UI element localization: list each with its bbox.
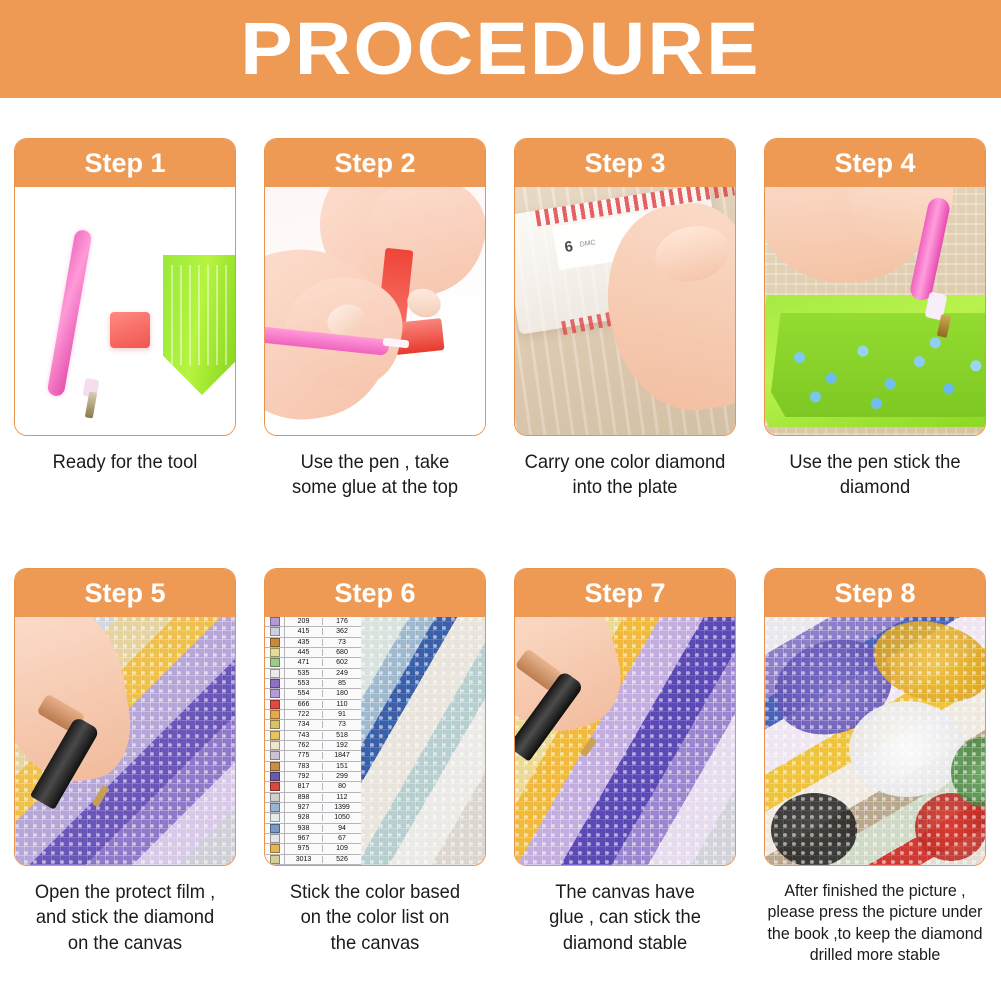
color-swatch-icon: [270, 710, 280, 719]
color-swatch-icon: [270, 689, 280, 698]
color-code-cell: 928: [285, 814, 323, 821]
color-chart-row: 7751847: [265, 751, 361, 761]
color-chart-row: 535249: [265, 669, 361, 679]
glue-dipping-photo: [265, 187, 485, 435]
color-swatch-icon: [270, 751, 280, 760]
step-6-header-label: Step 6: [334, 580, 415, 607]
step-7-image: [515, 617, 735, 865]
color-swatch-icon: [270, 762, 280, 771]
color-swatch-symbol: [265, 762, 285, 771]
color-chart-row: 445680: [265, 648, 361, 658]
step-4-caption: Use the pen stick thediamond: [763, 450, 987, 501]
color-swatch-icon: [270, 720, 280, 729]
color-code-cell: 435: [285, 639, 323, 646]
color-swatch-symbol: [265, 782, 285, 791]
color-chart-row: 43573: [265, 638, 361, 648]
color-swatch-symbol: [265, 658, 285, 667]
step-1-header-label: Step 1: [84, 150, 165, 177]
color-swatch-icon: [270, 627, 280, 636]
green-tray-icon: [163, 255, 235, 395]
color-swatch-symbol: [265, 617, 285, 626]
color-swatch-icon: [270, 813, 280, 822]
color-swatch-icon: [270, 855, 280, 864]
color-code-cell: 553: [285, 680, 323, 687]
step-card-4[interactable]: Step 4: [764, 138, 986, 436]
color-code-cell: 209: [285, 618, 323, 625]
color-swatch-symbol: [265, 731, 285, 740]
color-chart-row: 666110: [265, 700, 361, 710]
procedure-infographic: PROCEDURE Step 1 Ready for the: [0, 0, 1001, 1001]
tools-photo: [15, 187, 235, 435]
color-swatch-icon: [270, 772, 280, 781]
step-3-header-label: Step 3: [584, 150, 665, 177]
color-chart-row: 743518: [265, 731, 361, 741]
color-swatch-symbol: [265, 813, 285, 822]
step-5-caption: Open the protect film ,and stick the dia…: [13, 880, 237, 956]
color-chart-row: 898112: [265, 793, 361, 803]
color-chart-row: 81780: [265, 782, 361, 792]
step-4-image: [765, 187, 985, 435]
color-swatch-icon: [270, 741, 280, 750]
color-count-cell: 91: [323, 711, 361, 718]
steps-row-bottom: Step 5 Open the protect film ,and stick …: [0, 568, 1001, 966]
step-card-2[interactable]: Step 2: [264, 138, 486, 436]
color-chart-row: 9271399: [265, 803, 361, 813]
color-swatch-symbol: [265, 638, 285, 647]
color-swatch-symbol: [265, 679, 285, 688]
color-chart-panel: 2091764153624357344568047160253524955385…: [265, 617, 361, 865]
step-3-image: 6 DMC: [515, 187, 735, 435]
color-code-cell: 471: [285, 659, 323, 666]
step-7-header: Step 7: [515, 569, 735, 617]
color-code-cell: 743: [285, 732, 323, 739]
page-banner: PROCEDURE: [0, 0, 1001, 98]
color-code-cell: 445: [285, 649, 323, 656]
bag-label-sub: DMC: [579, 239, 596, 248]
color-swatch-symbol: [265, 834, 285, 843]
step-1-image: [15, 187, 235, 435]
color-swatch-icon: [270, 731, 280, 740]
color-chart-row: 55385: [265, 679, 361, 689]
color-chart-row: 73473: [265, 720, 361, 730]
color-swatch-icon: [270, 793, 280, 802]
color-chart-row: 96767: [265, 834, 361, 844]
color-swatch-symbol: [265, 627, 285, 636]
step-1-header: Step 1: [15, 139, 235, 187]
color-chart-row: 975109: [265, 844, 361, 854]
step-2-header: Step 2: [265, 139, 485, 187]
color-chart-row: 72291: [265, 710, 361, 720]
step-5-header: Step 5: [15, 569, 235, 617]
color-count-cell: 112: [323, 794, 361, 801]
color-swatch-icon: [270, 803, 280, 812]
color-count-cell: 518: [323, 732, 361, 739]
bead-highlight-overlay: [361, 617, 485, 865]
step-card-7[interactable]: Step 7: [514, 568, 736, 866]
step-1-caption: Ready for the tool: [13, 450, 237, 475]
color-swatch-icon: [270, 658, 280, 667]
color-chart-table: 2091764153624357344568047160253524955385…: [265, 617, 361, 865]
color-count-cell: 180: [323, 690, 361, 697]
color-code-cell: 535: [285, 670, 323, 677]
step-5-header-label: Step 5: [84, 580, 165, 607]
color-swatch-symbol: [265, 803, 285, 812]
color-chart-row: 415362: [265, 627, 361, 637]
color-code-cell: 775: [285, 752, 323, 759]
color-code-cell: 792: [285, 773, 323, 780]
step-cell-1: Step 1 Ready for the tool: [0, 138, 250, 501]
step-7-caption: The canvas haveglue , can stick thediamo…: [513, 880, 737, 956]
step-cell-2: Step 2 U: [250, 138, 500, 501]
step-card-1[interactable]: Step 1: [14, 138, 236, 436]
color-code-cell: 938: [285, 825, 323, 832]
color-swatch-symbol: [265, 700, 285, 709]
step-cell-6: Step 6 209176415362435734456804716025352…: [250, 568, 500, 966]
step-4-header-label: Step 4: [834, 150, 915, 177]
color-swatch-symbol: [265, 689, 285, 698]
color-swatch-icon: [270, 782, 280, 791]
color-code-cell: 783: [285, 763, 323, 770]
color-code-cell: 898: [285, 794, 323, 801]
step-cell-3: Step 3 6 DMC: [500, 138, 750, 501]
color-swatch-icon: [270, 700, 280, 709]
step-6-caption: Stick the color basedon the color list o…: [263, 880, 487, 956]
color-count-cell: 73: [323, 639, 361, 646]
color-code-cell: 3013: [285, 856, 323, 863]
color-swatch-symbol: [265, 648, 285, 657]
step-8-header: Step 8: [765, 569, 985, 617]
canvas-photo: [15, 617, 235, 865]
canvas-photo: [361, 617, 485, 865]
color-swatch-symbol: [265, 844, 285, 853]
pink-pen-icon: [47, 229, 93, 397]
color-count-cell: 176: [323, 618, 361, 625]
color-code-cell: 722: [285, 711, 323, 718]
color-count-cell: 1847: [323, 752, 361, 759]
step-7-header-label: Step 7: [584, 580, 665, 607]
color-swatch-symbol: [265, 751, 285, 760]
color-swatch-icon: [270, 669, 280, 678]
step-2-caption: Use the pen , takesome glue at the top: [263, 450, 487, 501]
color-swatch-symbol: [265, 669, 285, 678]
step-6-image: 2091764153624357344568047160253524955385…: [265, 617, 485, 865]
color-count-cell: 109: [323, 845, 361, 852]
color-chart-row: 554180: [265, 689, 361, 699]
color-count-cell: 1050: [323, 814, 361, 821]
step-card-8[interactable]: Step 8: [764, 568, 986, 866]
color-code-cell: 817: [285, 783, 323, 790]
color-count-cell: 362: [323, 628, 361, 635]
color-code-cell: 967: [285, 835, 323, 842]
color-swatch-symbol: [265, 793, 285, 802]
color-chart-row: 762192: [265, 741, 361, 751]
color-swatch-symbol: [265, 772, 285, 781]
color-count-cell: 680: [323, 649, 361, 656]
color-count-cell: 526: [323, 856, 361, 863]
color-count-cell: 85: [323, 680, 361, 687]
color-chart-row: 3013526: [265, 855, 361, 865]
color-chart-row: 471602: [265, 658, 361, 668]
step-card-6[interactable]: Step 6 209176415362435734456804716025352…: [264, 568, 486, 866]
step-8-header-label: Step 8: [834, 580, 915, 607]
color-chart-row: 209176: [265, 617, 361, 627]
color-chart-row: 792299: [265, 772, 361, 782]
step-4-header: Step 4: [765, 139, 985, 187]
page-title: PROCEDURE: [240, 12, 760, 86]
color-count-cell: 110: [323, 701, 361, 708]
step-2-header-label: Step 2: [334, 150, 415, 177]
color-count-cell: 299: [323, 773, 361, 780]
bead-highlight-overlay: [765, 617, 985, 865]
step-cell-7: Step 7 The canvas haveglue , can stick t…: [500, 568, 750, 966]
canvas-photo: [515, 617, 735, 865]
color-code-cell: 975: [285, 845, 323, 852]
color-swatch-symbol: [265, 741, 285, 750]
color-count-cell: 151: [323, 763, 361, 770]
color-code-cell: 554: [285, 690, 323, 697]
step-cell-8: Step 8 After finished the picture: [750, 568, 1000, 966]
color-count-cell: 94: [323, 825, 361, 832]
step-3-caption: Carry one color diamondinto the plate: [513, 450, 737, 501]
color-swatch-symbol: [265, 855, 285, 864]
color-count-cell: 192: [323, 742, 361, 749]
color-swatch-icon: [270, 679, 280, 688]
finished-painting-photo: [765, 617, 985, 865]
step-8-image: [765, 617, 985, 865]
step-cell-4: Step 4 Use the pen stick thediamon: [750, 138, 1000, 501]
step-6-header: Step 6: [265, 569, 485, 617]
color-swatch-icon: [270, 617, 280, 626]
steps-row-top: Step 1 Ready for the tool Step 2: [0, 138, 1001, 501]
color-swatch-symbol: [265, 720, 285, 729]
color-count-cell: 249: [323, 670, 361, 677]
color-code-cell: 415: [285, 628, 323, 635]
step-3-header: Step 3: [515, 139, 735, 187]
step-card-5[interactable]: Step 5: [14, 568, 236, 866]
diamond-bag-photo: 6 DMC: [515, 187, 735, 435]
color-swatch-icon: [270, 834, 280, 843]
color-swatch-icon: [270, 824, 280, 833]
color-chart-row: 783151: [265, 762, 361, 772]
color-code-cell: 666: [285, 701, 323, 708]
color-chart-row: 93894: [265, 824, 361, 834]
color-code-cell: 762: [285, 742, 323, 749]
step-8-caption: After finished the picture ,please press…: [763, 880, 987, 966]
bag-label-number: 6: [563, 237, 574, 255]
blue-diamonds-icon: [777, 333, 985, 415]
step-cell-5: Step 5 Open the protect film ,and stick …: [0, 568, 250, 966]
color-swatch-icon: [270, 648, 280, 657]
color-chart-row: 9281050: [265, 813, 361, 823]
tray-photo: [765, 187, 985, 435]
glue-square-icon: [110, 312, 150, 348]
step-5-image: [15, 617, 235, 865]
color-count-cell: 1399: [323, 804, 361, 811]
color-swatch-symbol: [265, 710, 285, 719]
step-2-image: [265, 187, 485, 435]
color-count-cell: 80: [323, 783, 361, 790]
color-swatch-symbol: [265, 824, 285, 833]
step-card-3[interactable]: Step 3 6 DMC: [514, 138, 736, 436]
color-count-cell: 602: [323, 659, 361, 666]
color-swatch-icon: [270, 844, 280, 853]
color-count-cell: 73: [323, 721, 361, 728]
color-swatch-icon: [270, 638, 280, 647]
color-count-cell: 67: [323, 835, 361, 842]
color-code-cell: 927: [285, 804, 323, 811]
color-code-cell: 734: [285, 721, 323, 728]
